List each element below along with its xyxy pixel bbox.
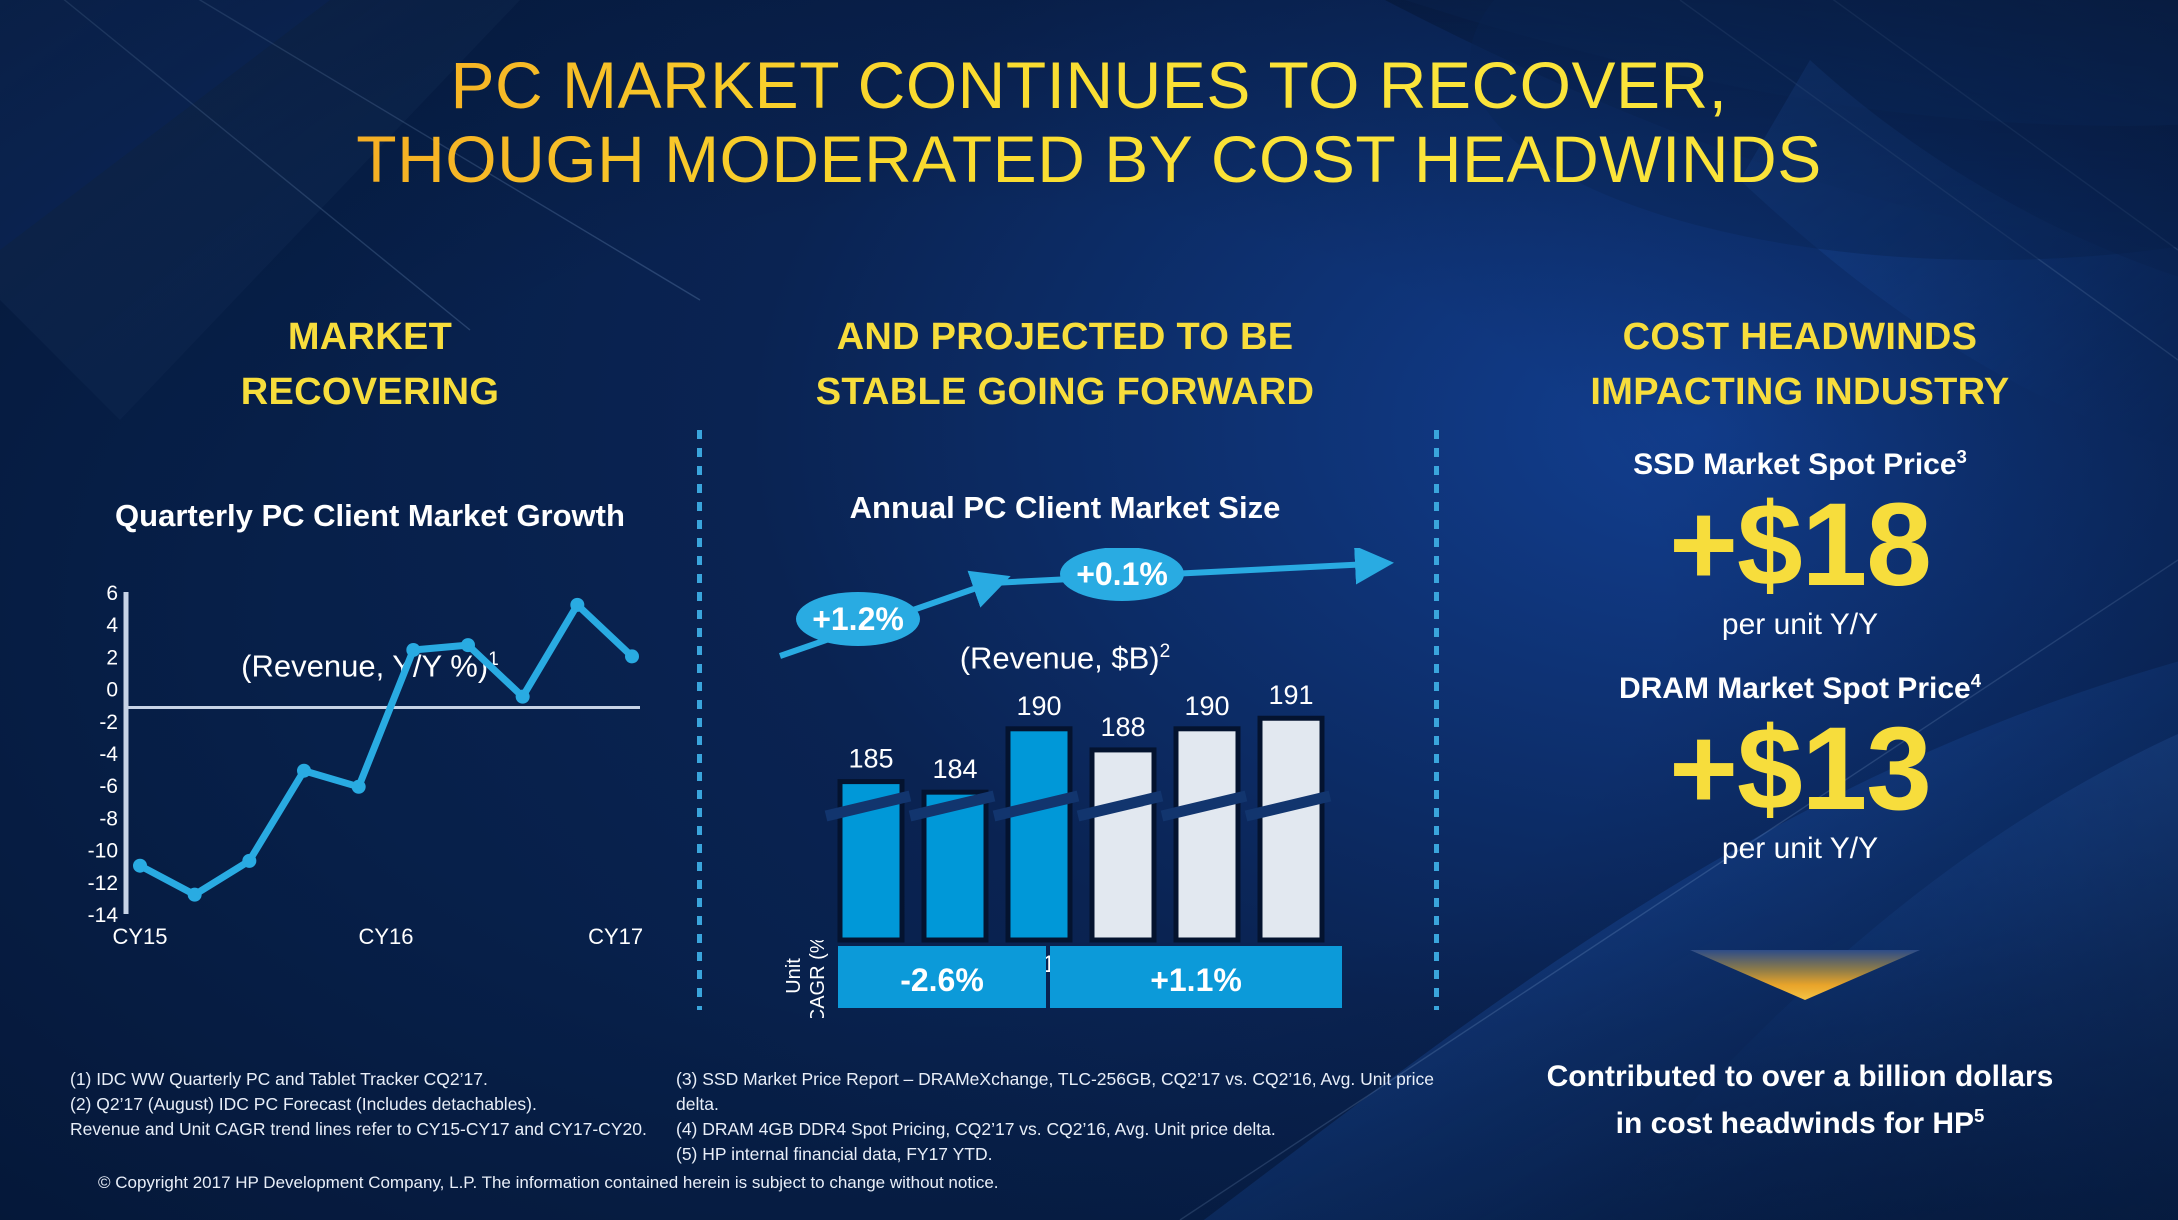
- data-point: [242, 854, 256, 868]
- bar-value-label: 185: [848, 744, 893, 774]
- slide-root: PC MARKET CONTINUES TO RECOVER, THOUGH M…: [0, 0, 2178, 1220]
- data-point: [625, 649, 639, 663]
- y-tick-label: -8: [99, 807, 118, 830]
- line-chart-x-tick-labels: CY15CY16CY17: [112, 924, 643, 949]
- growth-annotation-1: +1.2%: [812, 601, 904, 637]
- stat-dram-label-text: DRAM Market Spot Price: [1619, 672, 1971, 705]
- column-middle-heading: AND PROJECTED TO BE STABLE GOING FORWARD: [730, 310, 1400, 420]
- stat-ssd-label-text: SSD Market Spot Price: [1633, 448, 1956, 481]
- data-point: [516, 690, 530, 704]
- conclusion-text-body: Contributed to over a billion dollars in…: [1547, 1060, 2054, 1140]
- stat-dram-label: DRAM Market Spot Price4: [1470, 670, 2130, 706]
- x-tick-label: CY16: [358, 924, 413, 949]
- y-tick-label: -2: [99, 711, 118, 734]
- bar-value-label: 190: [1184, 691, 1229, 721]
- cagr-segment-1-label: -2.6%: [900, 962, 984, 998]
- data-point: [406, 643, 420, 657]
- cagr-axis-label-line2: CAGR (%): [807, 940, 829, 1018]
- bar-chart-bars: [840, 718, 1322, 940]
- footnotes-right: (3) SSD Market Price Report – DRAMeXchan…: [676, 1067, 1456, 1167]
- stat-dram-label-sup: 4: [1971, 670, 1981, 691]
- y-tick-label: -10: [88, 840, 118, 863]
- divider-left: [697, 430, 702, 1010]
- column-right-heading: COST HEADWINDS IMPACTING INDUSTRY: [1470, 310, 2130, 420]
- y-tick-label: 6: [106, 582, 118, 605]
- stat-dram-value: +$13: [1470, 710, 2130, 828]
- data-point: [570, 598, 584, 612]
- column-middle-subtitle-line1: Annual PC Client Market Size: [730, 484, 1400, 532]
- cagr-strip: Unit CAGR (%) -2.6% +1.1%: [770, 940, 1410, 1018]
- cagr-axis-label-line1: Unit: [783, 958, 805, 994]
- copyright-notice: © Copyright 2017 HP Development Company,…: [98, 1173, 999, 1193]
- line-chart-data-points: [133, 598, 639, 902]
- column-left-subtitle-line1: Quarterly PC Client Market Growth: [70, 492, 670, 540]
- stat-ssd-unit: per unit Y/Y: [1470, 608, 2130, 642]
- line-chart-y-tick-labels: 6420-2-4-6-8-10-12-14: [88, 582, 119, 927]
- cagr-segment-2-label: +1.1%: [1150, 962, 1242, 998]
- footnotes-left: (1) IDC WW Quarterly PC and Tablet Track…: [70, 1067, 690, 1142]
- line-chart-quarterly-growth: 6420-2-4-6-8-10-12-14 CY15CY16CY17: [80, 570, 680, 950]
- slide-title: PC MARKET CONTINUES TO RECOVER, THOUGH M…: [0, 48, 2178, 196]
- stat-ssd-label: SSD Market Spot Price3: [1470, 446, 2130, 482]
- y-tick-label: -6: [99, 775, 118, 798]
- stat-block-ssd: SSD Market Spot Price3 +$18 per unit Y/Y: [1470, 446, 2130, 642]
- stat-ssd-value: +$18: [1470, 486, 2130, 604]
- divider-right: [1434, 430, 1439, 1010]
- down-arrow-icon: [1690, 950, 1920, 1002]
- data-point: [297, 764, 311, 778]
- bar-value-label: 191: [1268, 680, 1313, 710]
- bar-chart-value-labels: 185184190188190191: [848, 680, 1313, 784]
- y-tick-label: -4: [99, 743, 118, 766]
- bar-value-label: 188: [1100, 712, 1145, 742]
- bar-value-label: 184: [932, 754, 977, 784]
- bar: [1176, 729, 1238, 940]
- bar: [1092, 750, 1154, 940]
- bar: [1260, 718, 1322, 940]
- conclusion-text: Contributed to over a billion dollars in…: [1470, 1018, 2130, 1143]
- stat-dram-unit: per unit Y/Y: [1470, 832, 2130, 866]
- bar: [1008, 729, 1070, 940]
- data-point: [352, 780, 366, 794]
- y-tick-label: 4: [106, 614, 118, 637]
- stat-block-dram: DRAM Market Spot Price4 +$13 per unit Y/…: [1470, 670, 2130, 866]
- growth-annotation-2: +0.1%: [1076, 556, 1168, 592]
- data-point: [133, 859, 147, 873]
- data-point: [461, 638, 475, 652]
- x-tick-label: CY17: [588, 924, 643, 949]
- conclusion-sup: 5: [1974, 1105, 1984, 1126]
- y-tick-label: 2: [106, 646, 118, 669]
- y-tick-label: 0: [106, 679, 118, 702]
- bar-chart-growth-arrow-2: +0.1%: [992, 548, 1370, 601]
- data-point: [188, 888, 202, 902]
- column-right: COST HEADWINDS IMPACTING INDUSTRY SSD Ma…: [1470, 310, 2130, 866]
- bar-chart-growth-arrow-1: +1.2%: [780, 584, 988, 656]
- bar-value-label: 190: [1016, 691, 1061, 721]
- x-tick-label: CY15: [112, 924, 167, 949]
- column-left-heading: MARKET RECOVERING: [70, 310, 670, 420]
- y-tick-label: -12: [88, 872, 118, 895]
- line-chart-series-line: [140, 605, 632, 895]
- stat-ssd-label-sup: 3: [1957, 446, 1967, 467]
